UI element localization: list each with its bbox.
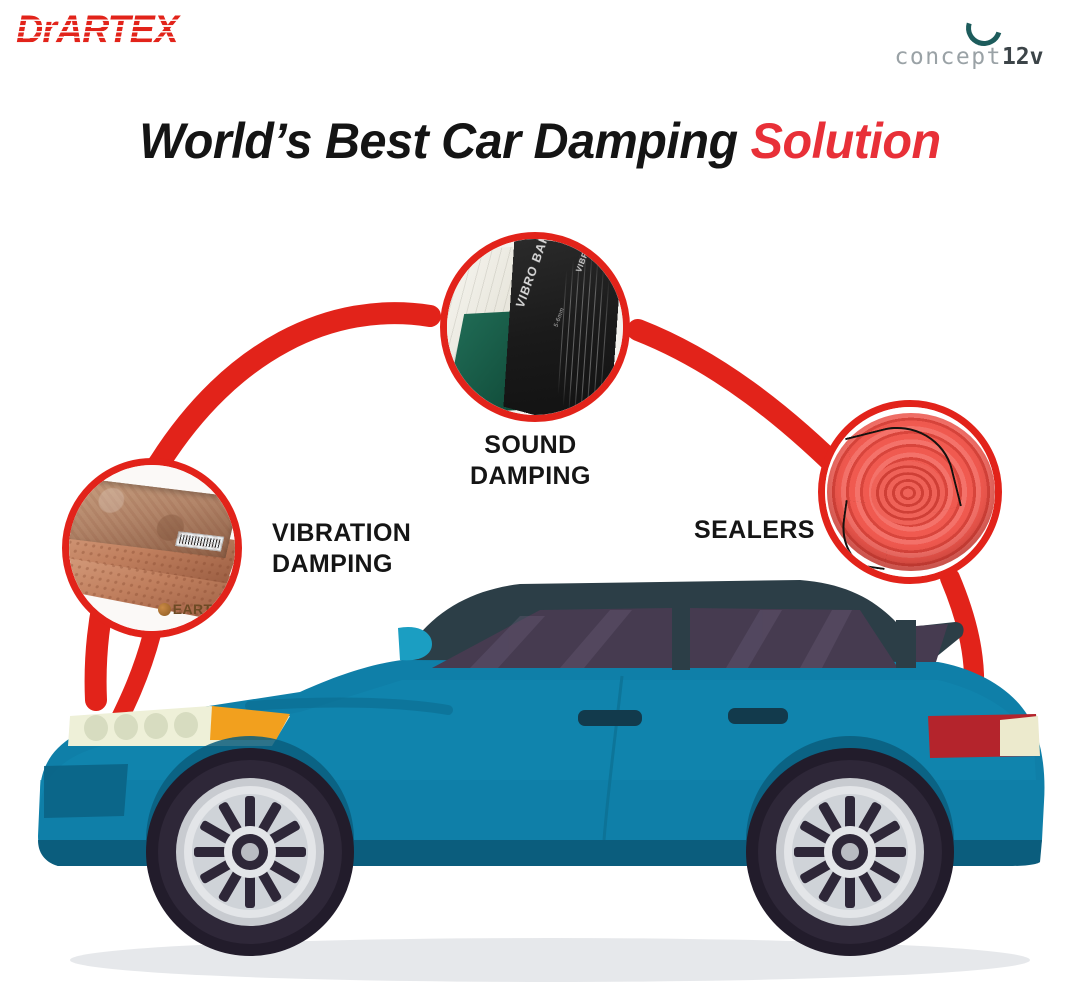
poster-canvas: DrARTEX concept12v World’s Best Car Damp…	[0, 0, 1080, 996]
drartex-logo-dr: Dr	[16, 8, 56, 52]
page-title-accent: Solution	[751, 113, 941, 169]
page-title: World’s Best Car Damping Solution	[16, 112, 1064, 170]
wave-pattern-icon	[551, 248, 615, 422]
vibro-barrier-label: VIBRO BARRIER	[514, 232, 564, 310]
front-air-intake	[44, 764, 128, 818]
concept12v-logo-text: concept12v	[884, 44, 1054, 70]
concept-word: concept	[895, 44, 1002, 70]
label-sound-damping: SOUND DAMPING	[470, 430, 591, 491]
drartex-logo: DrARTEX	[16, 8, 178, 53]
car-illustration	[0, 540, 1080, 996]
rear-door-handle	[728, 708, 788, 724]
vibro-barrier-sheet: VIBRO BARRIER VIBRO BARRIER 5-6mm	[503, 236, 622, 422]
taillight-clear	[1000, 716, 1040, 756]
drartex-logo-artex: ARTEX	[56, 8, 178, 52]
b-pillar	[672, 606, 690, 670]
front-wheel	[146, 748, 354, 956]
rear-wheel	[746, 748, 954, 956]
concept12v-logo: concept12v	[884, 10, 1054, 84]
page-title-main: World’s Best Car Damping	[139, 113, 750, 169]
callout-circle-sound-damping[interactable]: VIBRO BARRIER VIBRO BARRIER 5-6mm	[440, 232, 630, 422]
c-pillar	[896, 620, 916, 668]
concept-suffix: 12v	[1002, 44, 1044, 70]
sound-damping-product-image: VIBRO BARRIER VIBRO BARRIER 5-6mm	[447, 239, 623, 415]
front-door-handle	[578, 710, 642, 726]
